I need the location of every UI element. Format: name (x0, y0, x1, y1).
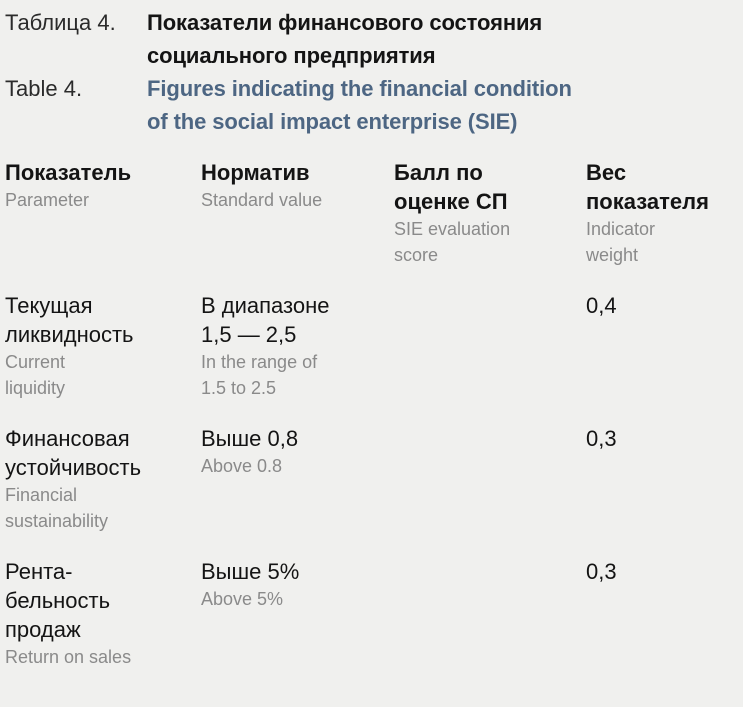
standard-en-line1: In the range of (201, 349, 381, 375)
column-header-parameter: Показатель Parameter (0, 149, 196, 282)
cell-indicator-weight: 0,3 (581, 415, 743, 548)
parameter-en-line2: sustainability (5, 508, 188, 534)
caption-title-ru-line2: социального предприятия (147, 39, 738, 72)
column-header-parameter-ru: Показатель (5, 158, 188, 187)
parameter-en-line1: Return on sales (5, 644, 188, 670)
table-row: Текущая ликвидность Current liquidity В … (0, 282, 743, 415)
caption-title-en-line1: Figures indicating the financial conditi… (147, 72, 738, 105)
parameter-ru-line1: Финансовая (5, 424, 188, 453)
parameter-en-line1: Financial (5, 482, 188, 508)
cell-evaluation-score (389, 548, 581, 684)
cell-indicator-weight: 0,3 (581, 548, 743, 684)
column-header-indicator-weight-en-line1: Indicator (586, 216, 735, 242)
caption-title-en-line2: of the social impact enterprise (SIE) (147, 105, 738, 138)
table-body: Текущая ликвидность Current liquidity В … (0, 282, 743, 684)
standard-ru-line1: Выше 5% (201, 557, 381, 586)
parameter-ru-line1: Текущая (5, 291, 188, 320)
parameter-ru-line3: продаж (5, 615, 188, 644)
column-header-evaluation-score: Балл по оценке СП SIE evaluation score (389, 149, 581, 282)
standard-ru-line1: Выше 0,8 (201, 424, 381, 453)
parameter-ru-line2: ликвидность (5, 320, 188, 349)
caption-english-line: Table 4. Figures indicating the financia… (5, 72, 738, 105)
caption-title-ru-line1: Показатели финансового состояния (147, 6, 738, 39)
standard-en-line1: Above 0.8 (201, 453, 381, 479)
cell-evaluation-score (389, 282, 581, 415)
parameter-en-line1: Current (5, 349, 188, 375)
caption-title-en-continuation: of the social impact enterprise (SIE) (5, 105, 738, 138)
cell-parameter: Финансовая устойчивость Financial sustai… (0, 415, 196, 548)
parameter-ru-line2: устойчивость (5, 453, 188, 482)
standard-en-line1: Above 5% (201, 586, 381, 612)
table-figure: Таблица 4. Показатели финансового состоя… (0, 0, 743, 707)
table-header: Показатель Parameter Норматив Standard v… (0, 149, 743, 282)
cell-standard-value: Выше 5% Above 5% (196, 548, 389, 684)
caption-label-en: Table 4. (5, 72, 147, 105)
table-header-row: Показатель Parameter Норматив Standard v… (0, 149, 743, 282)
column-header-indicator-weight-ru-line2: показателя (586, 187, 735, 216)
standard-en-line2: 1.5 to 2.5 (201, 375, 381, 401)
column-header-standard-value-ru: Норматив (201, 158, 381, 187)
standard-ru-line1: В диапазоне (201, 291, 381, 320)
column-header-evaluation-score-ru-line1: Балл по (394, 158, 573, 187)
column-header-standard-value: Норматив Standard value (196, 149, 389, 282)
column-header-evaluation-score-en-line1: SIE evaluation (394, 216, 573, 242)
parameter-en-line2: liquidity (5, 375, 188, 401)
column-header-indicator-weight-en-line2: weight (586, 242, 735, 268)
table-row: Рента- бельность продаж Return on sales … (0, 548, 743, 684)
column-header-indicator-weight-ru-line1: Вес (586, 158, 735, 187)
cell-standard-value: В диапазоне 1,5 — 2,5 In the range of 1.… (196, 282, 389, 415)
column-header-indicator-weight: Вес показателя Indicator weight (581, 149, 743, 282)
cell-parameter: Текущая ликвидность Current liquidity (0, 282, 196, 415)
cell-evaluation-score (389, 415, 581, 548)
parameter-ru-line2: бельность (5, 586, 188, 615)
column-header-evaluation-score-ru-line2: оценке СП (394, 187, 573, 216)
financial-indicators-table: Показатель Parameter Норматив Standard v… (0, 149, 743, 684)
indicator-weight-value: 0,3 (586, 424, 735, 453)
column-header-evaluation-score-en-line2: score (394, 242, 573, 268)
caption-russian-line: Таблица 4. Показатели финансового состоя… (5, 6, 738, 39)
indicator-weight-value: 0,3 (586, 557, 735, 586)
column-header-standard-value-en: Standard value (201, 187, 381, 213)
cell-indicator-weight: 0,4 (581, 282, 743, 415)
standard-ru-line2: 1,5 — 2,5 (201, 320, 381, 349)
indicator-weight-value: 0,4 (586, 291, 735, 320)
table-caption: Таблица 4. Показатели финансового состоя… (0, 0, 743, 138)
parameter-ru-line1: Рента- (5, 557, 188, 586)
column-header-parameter-en: Parameter (5, 187, 188, 213)
table-row: Финансовая устойчивость Financial sustai… (0, 415, 743, 548)
caption-label-ru: Таблица 4. (5, 6, 147, 39)
cell-parameter: Рента- бельность продаж Return on sales (0, 548, 196, 684)
caption-title-ru-continuation: социального предприятия (5, 39, 738, 72)
cell-standard-value: Выше 0,8 Above 0.8 (196, 415, 389, 548)
